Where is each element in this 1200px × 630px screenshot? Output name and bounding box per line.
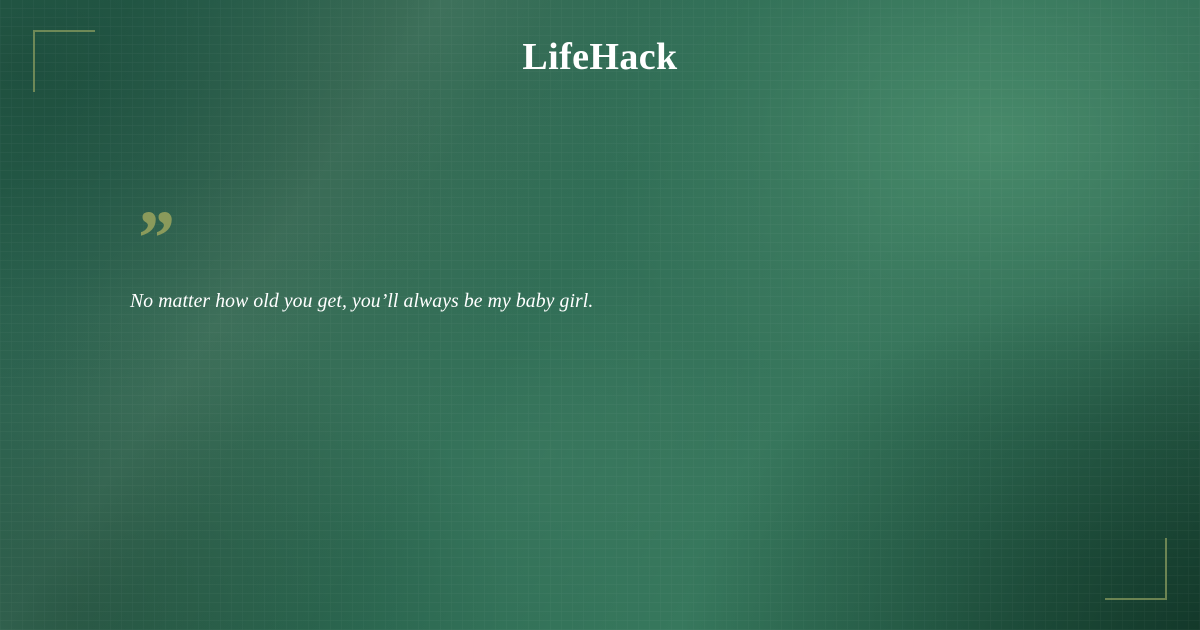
brand-logo-text: LifeHack [522,38,677,76]
brand-logo: LifeHack [0,38,1200,76]
background-base-gradient [0,0,1200,630]
background-glow-center [0,0,1200,630]
background-glow-upper-right [0,0,1200,630]
background-vignette [0,0,1200,630]
background-light-streak [0,0,1200,630]
quote-text: No matter how old you get, you’ll always… [130,288,1100,314]
corner-bracket-bottom-right-icon [1105,538,1167,600]
quotation-mark-icon: ” [134,214,1100,268]
background-texture-noise [0,0,1200,630]
quote-card: LifeHack ” No matter how old you get, yo… [0,0,1200,630]
quote-block: ” No matter how old you get, you’ll alwa… [130,214,1100,314]
